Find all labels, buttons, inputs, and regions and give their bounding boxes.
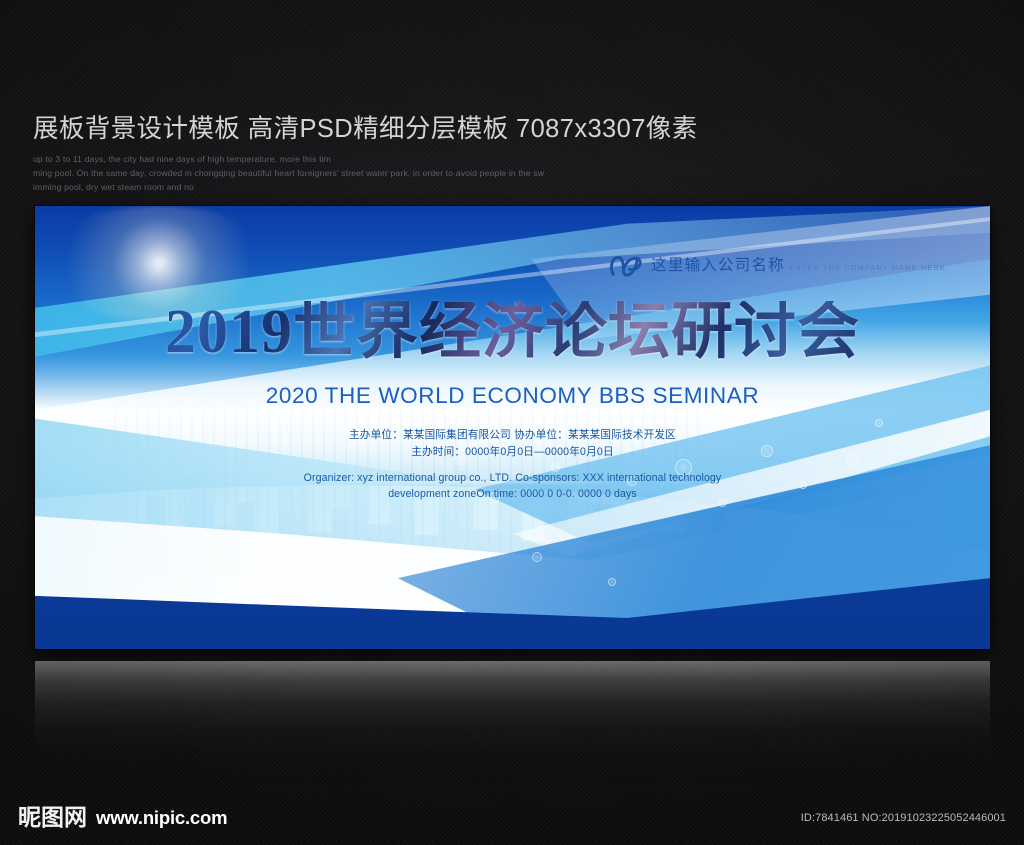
header-description-line: up to 3 to 11 days, the city had nine da… xyxy=(33,153,893,167)
site-brand-url: www.nipic.com xyxy=(96,808,227,829)
poster-date-line: 主办时间：0000年0月0日—0000年0月0日 xyxy=(35,444,990,461)
poster-reflection-panel xyxy=(35,661,990,783)
company-name-en: ENTER THE COMPANY NAME HERE xyxy=(789,263,946,272)
poster-host-line: 主办单位：某某国际集团有限公司 协办单位：某某某国际技术开发区 xyxy=(35,427,990,444)
poster-organizer-line-2: development zoneOn time: 0000 0 0-0. 000… xyxy=(35,486,990,502)
poster-preview-image[interactable]: 这里输入公司名称 ENTER THE COMPANY NAME HERE 201… xyxy=(35,206,990,649)
poster-meta-block: 主办单位：某某国际集团有限公司 协办单位：某某某国际技术开发区 主办时间：000… xyxy=(35,427,990,503)
bokeh-circle xyxy=(532,552,542,562)
page-title: 展板背景设计模板 高清PSD精细分层模板 7087x3307像素 xyxy=(33,114,893,144)
header-block: 展板背景设计模板 高清PSD精细分层模板 7087x3307像素 up to 3… xyxy=(33,114,893,195)
site-brand[interactable]: 昵图网 www.nipic.com xyxy=(18,806,227,829)
header-description-line: ming pool. On the same day, crowded in c… xyxy=(33,167,893,181)
asset-id-text: ID:7841461 NO:20191023225052446001 xyxy=(801,812,1006,824)
company-logo-block[interactable]: 这里输入公司名称 ENTER THE COMPANY NAME HERE xyxy=(609,252,946,280)
poster-title-en: 2020 THE WORLD ECONOMY BBS SEMINAR xyxy=(35,383,990,409)
poster-title-cn: 2019世界经济论坛研讨会 xyxy=(35,301,990,363)
poster-organizer-en-block: Organizer: xyz international group co., … xyxy=(35,470,990,502)
wave-monogram-logo-icon xyxy=(609,252,643,280)
company-logo-text: 这里输入公司名称 ENTER THE COMPANY NAME HERE xyxy=(651,258,946,274)
site-brand-cn: 昵图网 xyxy=(18,806,87,829)
header-description: up to 3 to 11 days, the city had nine da… xyxy=(33,153,893,195)
header-description-line: imming pool, dry wet steam room and no xyxy=(33,181,893,195)
poster-organizer-line-1: Organizer: xyz international group co., … xyxy=(35,470,990,486)
page-root: 展板背景设计模板 高清PSD精细分层模板 7087x3307像素 up to 3… xyxy=(0,0,1024,845)
company-name-cn: 这里输入公司名称 xyxy=(651,257,785,274)
